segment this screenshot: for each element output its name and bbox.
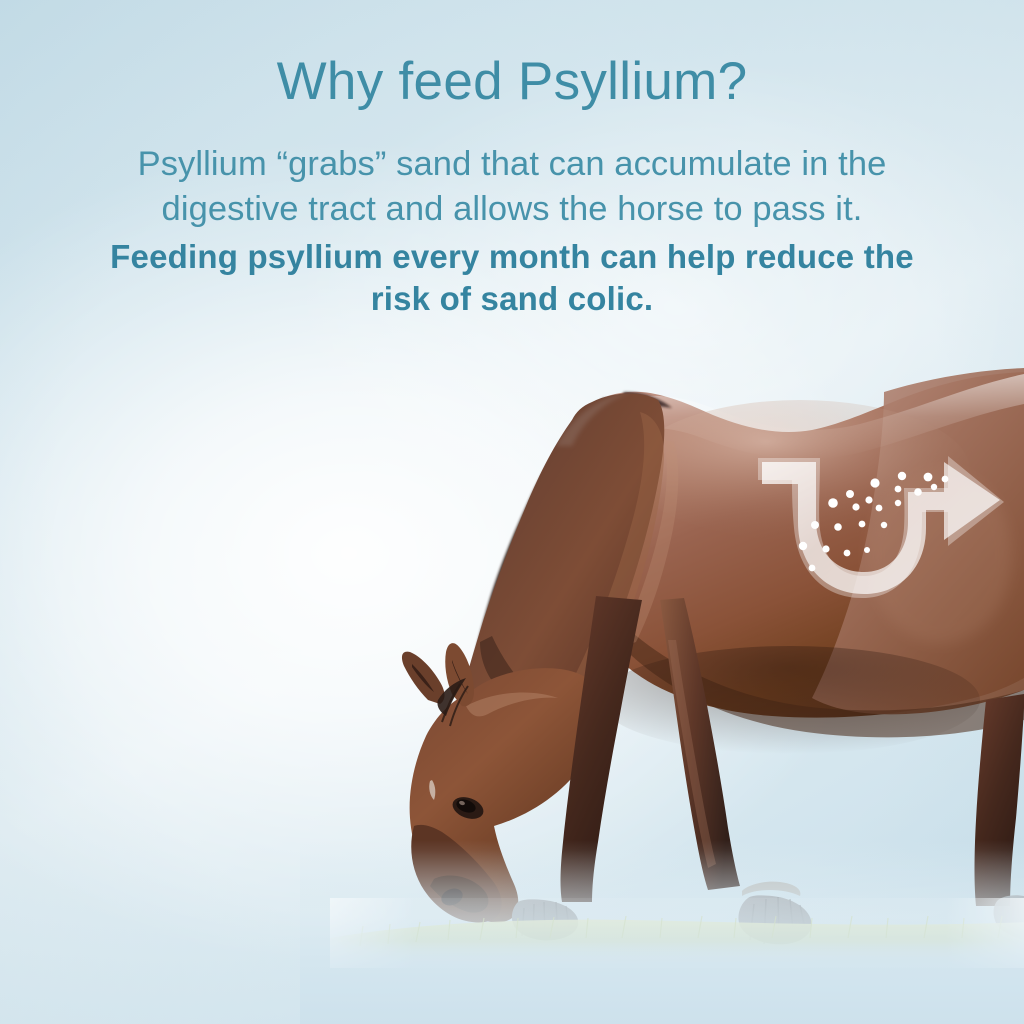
emphasis-line-1: Feeding psyllium every month can help re… [110, 238, 914, 275]
emphasis-paragraph: Feeding psyllium every month can help re… [0, 236, 1024, 320]
body-line-2: digestive tract and allows the horse to … [162, 190, 863, 228]
psyllium-infographic-poster: Why feed Psyllium? Psyllium “grabs” sand… [0, 0, 1024, 1024]
body-line-1: Psyllium “grabs” sand that can accumulat… [138, 145, 887, 183]
emphasis-line-2: risk of sand colic. [371, 280, 654, 317]
page-title: Why feed Psyllium? [0, 52, 1024, 111]
body-paragraph: Psyllium “grabs” sand that can accumulat… [0, 142, 1024, 232]
bottom-fade [300, 850, 1024, 1024]
text-block: Why feed Psyllium? Psyllium “grabs” sand… [0, 0, 1024, 320]
